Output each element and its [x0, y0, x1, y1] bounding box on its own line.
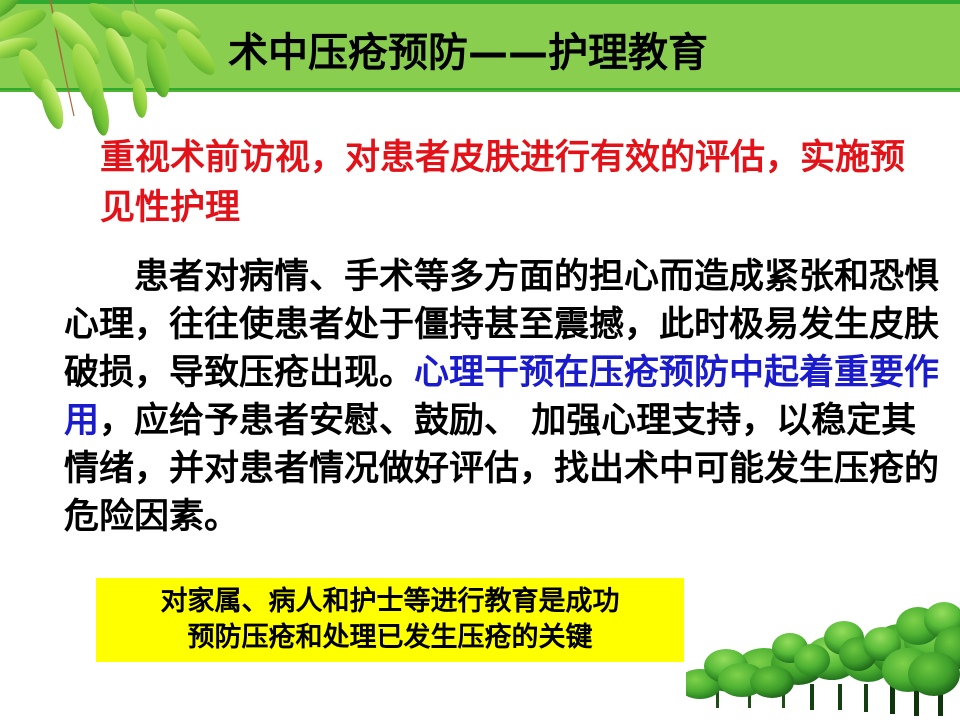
body-paragraph: 患者对病情、手术等多方面的担心而造成紧张和恐惧心理，往往使患者处于僵持甚至震撼，… [64, 253, 944, 541]
callout-line-1: 对家属、病人和护士等进行教育是成功 [161, 584, 620, 620]
callout-box: 对家属、病人和护士等进行教育是成功 预防压疮和处理已发生压疮的关键 [96, 578, 684, 662]
header-accent-line [0, 90, 960, 92]
page-title: 术中压疮预防——护理教育 [228, 30, 788, 76]
body-segment-3: ，应给予患者安慰、鼓励、 加强心理支持，以稳定其情绪，并对患者情况做好评估，找出… [64, 401, 939, 537]
slide-canvas: 术中压疮预防——护理教育 [0, 0, 960, 720]
green-trees-icon [686, 588, 960, 720]
callout-line-2: 预防压疮和处理已发生压疮的关键 [188, 620, 593, 656]
section-heading: 重视术前访视，对患者皮肤进行有效的评估，实施预见性护理 [100, 133, 930, 233]
